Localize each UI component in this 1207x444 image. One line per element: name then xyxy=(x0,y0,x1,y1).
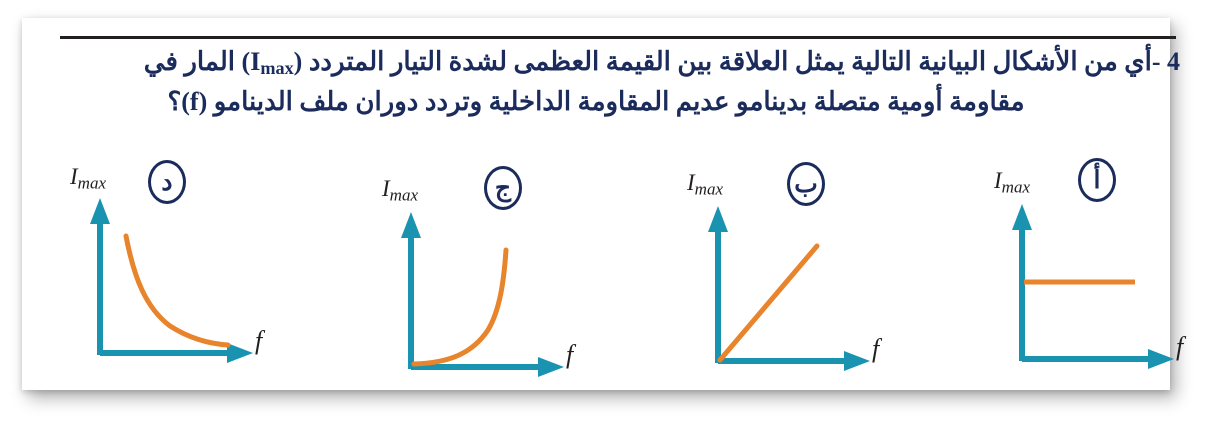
y-axis-label-b: Imax xyxy=(687,170,723,199)
y-axis-d xyxy=(90,198,110,355)
x-axis-a xyxy=(1022,349,1174,369)
y-axis-j xyxy=(401,212,421,369)
question-text: 4 -أي من الأشكال البيانية التالية يمثل ا… xyxy=(52,42,1180,123)
option-graph-b[interactable]: ب Imax f xyxy=(654,158,934,393)
x-axis-b xyxy=(718,351,870,371)
question-line-1-main: 4 -أي من الأشكال البيانية التالية يمثل ا… xyxy=(250,47,1180,76)
curve-j xyxy=(414,250,506,364)
y-axis-label-d: Imax xyxy=(70,164,106,193)
graph-svg-a xyxy=(952,158,1207,393)
option-graph-j[interactable]: ج Imax f xyxy=(344,158,624,393)
option-badge-d[interactable]: د xyxy=(148,160,186,204)
option-graph-d[interactable]: د Imax f xyxy=(50,158,330,393)
x-axis-label-j: f xyxy=(566,340,573,370)
y-axis-label-a: Imax xyxy=(994,168,1030,197)
question-line-1: 4 -أي من الأشكال البيانية التالية يمثل ا… xyxy=(52,42,1180,82)
x-axis-label-b: f xyxy=(872,334,879,364)
y-axis-b xyxy=(708,206,728,363)
curve-b xyxy=(720,246,817,360)
x-axis-label-d: f xyxy=(255,326,262,356)
question-page: 4 -أي من الأشكال البيانية التالية يمثل ا… xyxy=(0,0,1207,444)
question-card: 4 -أي من الأشكال البيانية التالية يمثل ا… xyxy=(22,18,1170,390)
graph-svg-d xyxy=(50,158,330,393)
y-axis-label-j: Imax xyxy=(382,176,418,205)
imax-subscript: max xyxy=(260,47,293,76)
question-line-2: مقاومة أومية متصلة بدينامو عديم المقاومة… xyxy=(52,82,1180,122)
option-badge-j[interactable]: ج xyxy=(484,166,522,210)
curve-d xyxy=(126,236,228,345)
x-axis-label-a: f xyxy=(1176,332,1183,362)
answer-options-row: د Imax f xyxy=(50,158,1186,393)
top-divider-rule xyxy=(60,36,1176,39)
option-graph-a[interactable]: أ Imax f xyxy=(952,158,1207,393)
option-badge-b[interactable]: ب xyxy=(787,162,825,206)
question-line-1-tail: ) المار في xyxy=(144,47,250,76)
option-badge-a[interactable]: أ xyxy=(1078,158,1116,202)
